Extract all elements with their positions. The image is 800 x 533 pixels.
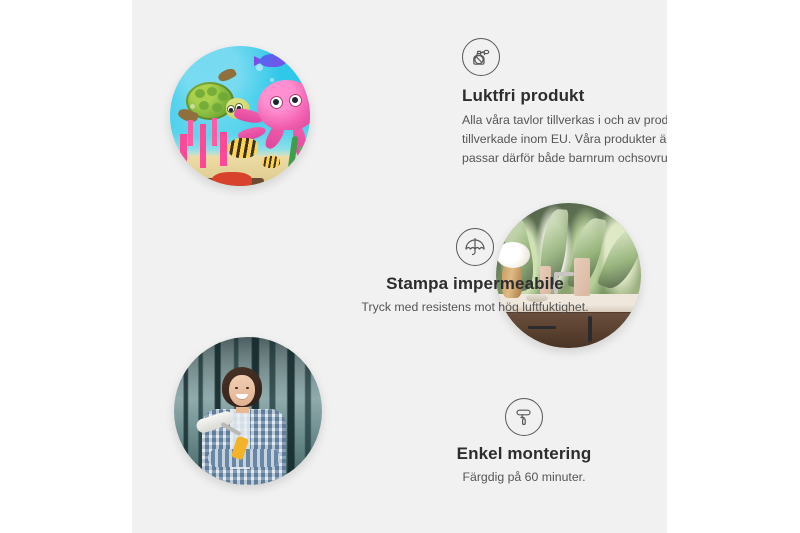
bubble [190,104,195,109]
photo-woman-paint-roller-forest [174,337,322,485]
octopus-head [258,80,310,130]
yellow-striped-fish-small [262,156,280,168]
feature-description: Färgdig på 60 minuter. [424,468,624,487]
paint-roller-icon [505,398,543,436]
feature-easy-mounting: Enkel montering Färgdig på 60 minuter. [424,398,624,487]
feature-title: Stampa impermeabile [350,273,600,294]
bubble [270,78,274,82]
bathroom-vanity-cabinet [496,312,641,348]
content-panel: Luktfri produkt Alla våra tavlor tillver… [132,0,667,533]
feature-title: Luktfri produkt [462,85,667,106]
blue-fish [260,54,286,67]
pink-coral [174,118,236,168]
red-crab [212,172,252,186]
feature-odour-free: Luktfri produkt Alla våra tavlor tillver… [462,38,667,168]
feature-icon-wrap [424,398,624,443]
feature-icon-wrap [350,228,600,273]
feature-description: Alla våra tavlor tillverkas i och av pro… [462,111,667,168]
cabinet-handle [588,316,592,342]
bubble [256,64,263,71]
feature-title: Enkel montering [424,443,624,464]
woman-face [229,375,255,406]
umbrella-icon [456,228,494,266]
photo-ocean-kids-mural [170,46,310,186]
feature-icon-wrap [462,38,667,76]
drawer-handle [528,326,556,329]
feature-description: Tryck med resistens mot hög luftfuktighe… [350,298,600,317]
no-fragrance-icon [462,38,500,76]
feature-waterproof-print: Stampa impermeabile Tryck med resistens … [350,228,600,317]
screenshot-canvas: Luktfri produkt Alla våra tavlor tillver… [0,0,800,533]
